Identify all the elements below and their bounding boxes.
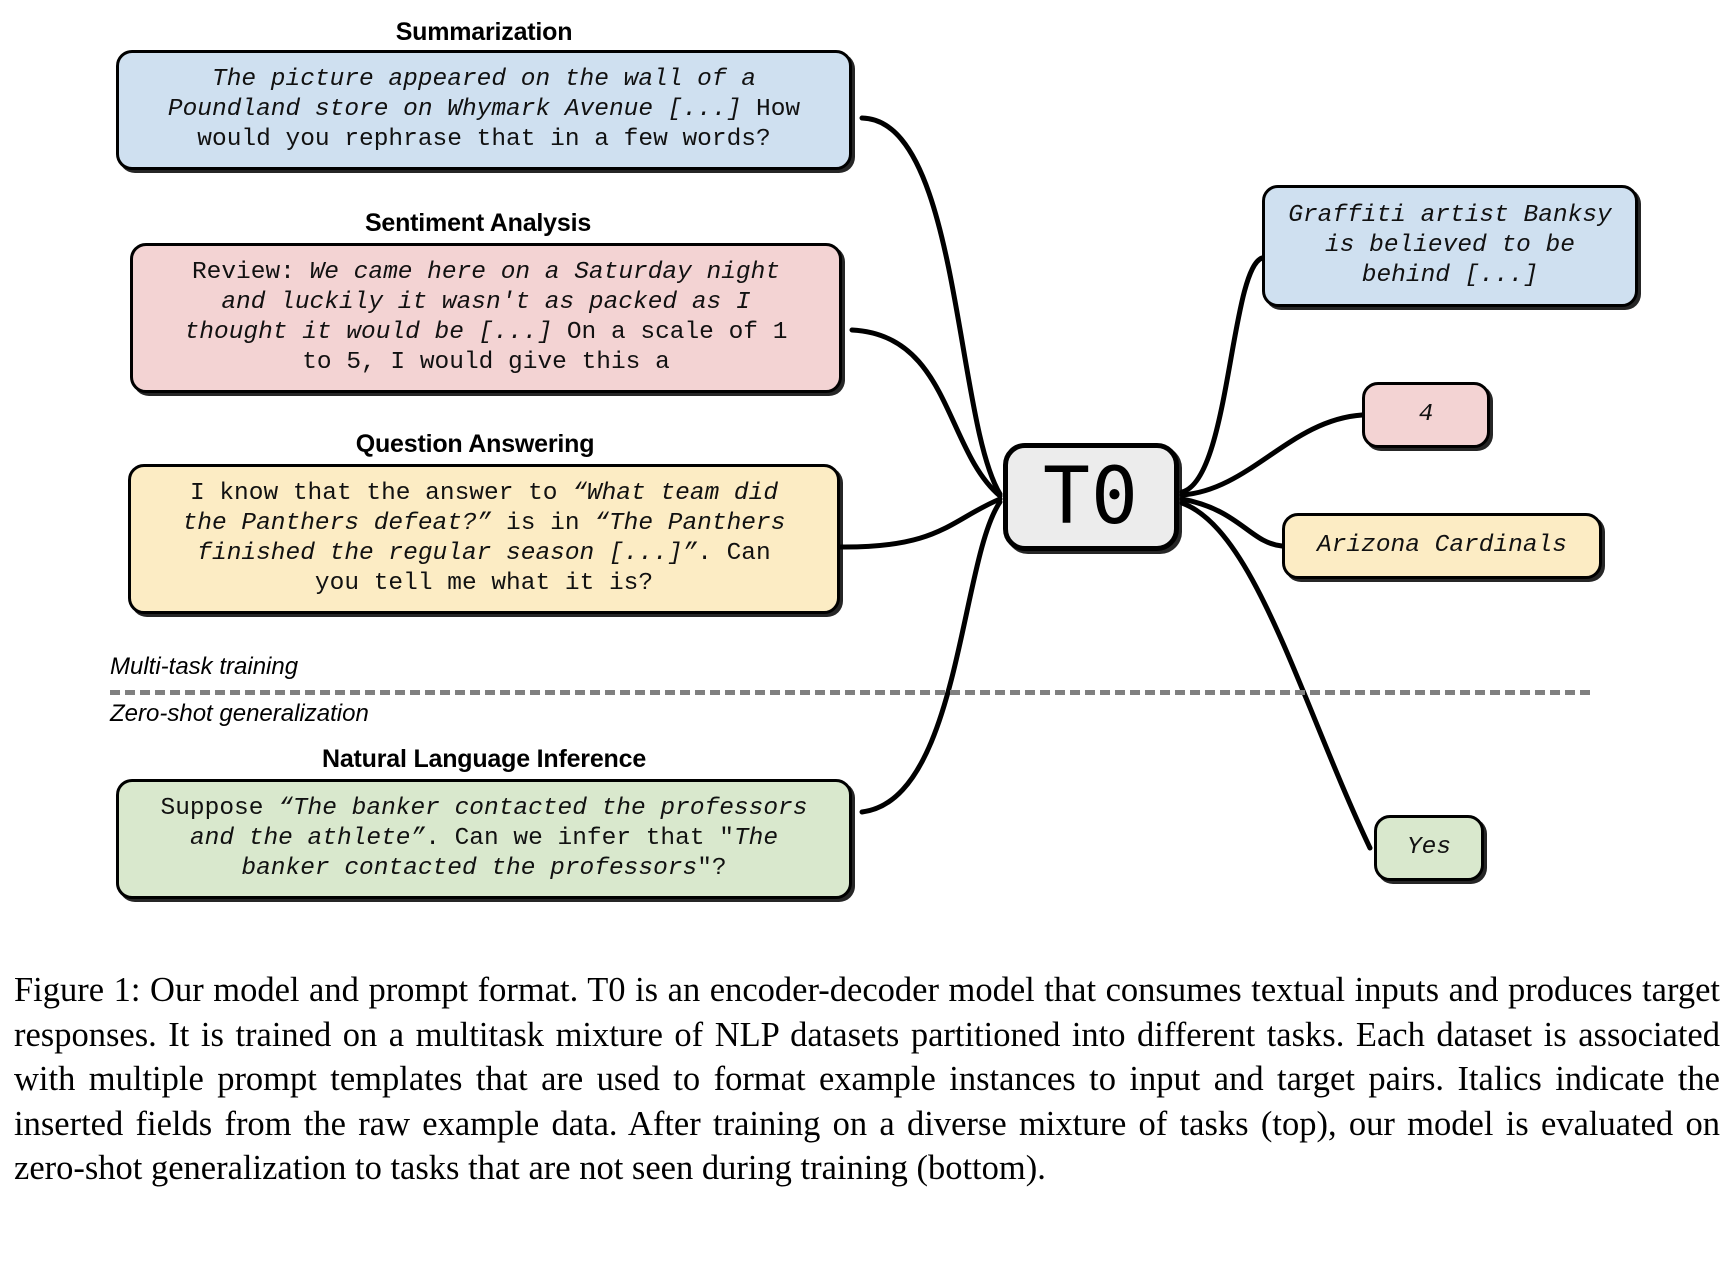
task-title-summarization: Summarization (108, 18, 860, 47)
output-text-team: Arizona Cardinals (1297, 531, 1587, 561)
task-title-question-answering: Question Answering (108, 430, 842, 459)
output-text-summary: Graffiti artist Banksyis believed to beb… (1277, 201, 1623, 291)
output-text-rating: 4 (1377, 400, 1475, 430)
task-title-sentiment-analysis: Sentiment Analysis (108, 209, 848, 238)
output-box-summary: Graffiti artist Banksyis believed to beb… (1262, 185, 1638, 307)
split-divider (110, 690, 1590, 695)
edge-sentiment-to-t0 (852, 330, 1000, 496)
task-title-natural-language-inference: Natural Language Inference (108, 745, 860, 774)
input-text-natural-language-inference: Suppose “The banker contacted the profes… (131, 794, 837, 884)
input-text-summarization: The picture appeared on the wall of aPou… (131, 65, 837, 155)
edge-nli-to-t0 (862, 502, 1000, 812)
split-label-multi-task-training: Multi-task training (110, 653, 298, 681)
output-box-rating: 4 (1362, 382, 1490, 448)
input-text-sentiment-analysis: Review: We came here on a Saturday night… (145, 258, 827, 378)
input-text-question-answering: I know that the answer to “What team did… (143, 479, 825, 599)
split-label-zero-shot-generalization: Zero-shot generalization (110, 700, 369, 728)
input-box-sentiment-analysis: Review: We came here on a Saturday night… (130, 243, 842, 393)
edge-t0-to-summary-output (1182, 258, 1262, 492)
output-box-team: Arizona Cardinals (1282, 513, 1602, 579)
figure-caption: Figure 1: Our model and prompt format. T… (14, 968, 1720, 1191)
edge-t0-to-rating-output (1182, 415, 1362, 495)
input-box-natural-language-inference: Suppose “The banker contacted the profes… (116, 779, 852, 899)
edge-qa-to-t0 (840, 499, 1000, 547)
t0-model-node: T0 (1003, 443, 1179, 551)
input-box-question-answering: I know that the answer to “What team did… (128, 464, 840, 614)
t0-model-label: T0 (1043, 458, 1139, 536)
edge-summarization-to-t0 (862, 118, 1000, 494)
output-box-yes: Yes (1374, 815, 1484, 881)
edge-t0-to-team-output (1182, 499, 1282, 546)
figure-page: Summarization The picture appeared on th… (0, 0, 1734, 1264)
output-text-yes: Yes (1389, 833, 1469, 863)
input-box-summarization: The picture appeared on the wall of aPou… (116, 50, 852, 170)
t0-prompt-format-diagram: Summarization The picture appeared on th… (0, 0, 1734, 870)
